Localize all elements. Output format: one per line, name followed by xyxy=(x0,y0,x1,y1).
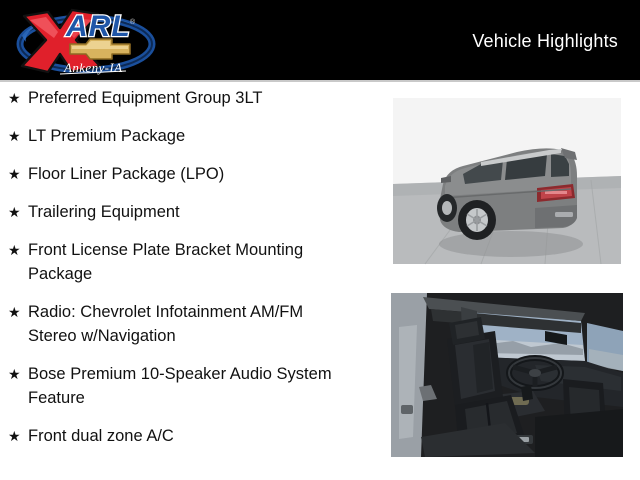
vehicle-exterior-photo[interactable] xyxy=(385,92,629,270)
page-title: Vehicle Highlights xyxy=(472,30,618,52)
header-divider xyxy=(0,80,640,82)
list-item: ★ Bose Premium 10-Speaker Audio System F… xyxy=(0,362,368,410)
list-item-label: Bose Premium 10-Speaker Audio System Fea… xyxy=(28,362,362,410)
list-item: ★ Trailering Equipment xyxy=(0,200,368,224)
list-item: ★ LT Premium Package xyxy=(0,124,368,148)
wheel-front xyxy=(437,194,457,222)
star-bullet-icon: ★ xyxy=(8,300,28,324)
vehicle-highlights-slide: ARL ® Ankeny-IA Vehicle Highlights ★ xyxy=(0,0,640,480)
star-bullet-icon: ★ xyxy=(8,124,28,148)
list-item-label: Radio: Chevrolet Infotainment AM/FM Ster… xyxy=(28,300,362,348)
list-item-label: Trailering Equipment xyxy=(28,200,362,224)
logo-location-script-icon: Ankeny-IA xyxy=(60,60,126,75)
star-bullet-icon: ★ xyxy=(8,162,28,186)
list-item-label: Preferred Equipment Group 3LT xyxy=(28,86,362,110)
star-bullet-icon: ★ xyxy=(8,200,28,224)
list-item: ★ Floor Liner Package (LPO) xyxy=(0,162,368,186)
wheel-rear xyxy=(458,200,496,240)
vehicle-interior-photo[interactable] xyxy=(385,287,629,463)
list-item-label: Front License Plate Bracket Mounting Pac… xyxy=(28,238,362,286)
list-item: ★ Front dual zone A/C xyxy=(0,424,368,448)
list-item-label: Front dual zone A/C xyxy=(28,424,362,448)
vehicle-highlights-list: ★ Preferred Equipment Group 3LT ★ LT Pre… xyxy=(0,86,368,478)
header-bar: ARL ® Ankeny-IA Vehicle Highlights xyxy=(0,0,640,80)
list-item: ★ Radio: Chevrolet Infotainment AM/FM St… xyxy=(0,300,368,348)
dealer-logo[interactable]: ARL ® Ankeny-IA xyxy=(8,2,168,78)
svg-text:®: ® xyxy=(130,18,136,26)
star-bullet-icon: ★ xyxy=(8,362,28,386)
list-item: ★ Front License Plate Bracket Mounting P… xyxy=(0,238,368,286)
svg-text:ARL: ARL xyxy=(65,10,131,43)
star-bullet-icon: ★ xyxy=(8,86,28,110)
list-item-label: LT Premium Package xyxy=(28,124,362,148)
list-item: ★ Preferred Equipment Group 3LT xyxy=(0,86,368,110)
star-bullet-icon: ★ xyxy=(8,424,28,448)
logo-arl-wordmark-icon: ARL ® xyxy=(65,10,136,43)
star-bullet-icon: ★ xyxy=(8,238,28,262)
list-item-label: Floor Liner Package (LPO) xyxy=(28,162,362,186)
